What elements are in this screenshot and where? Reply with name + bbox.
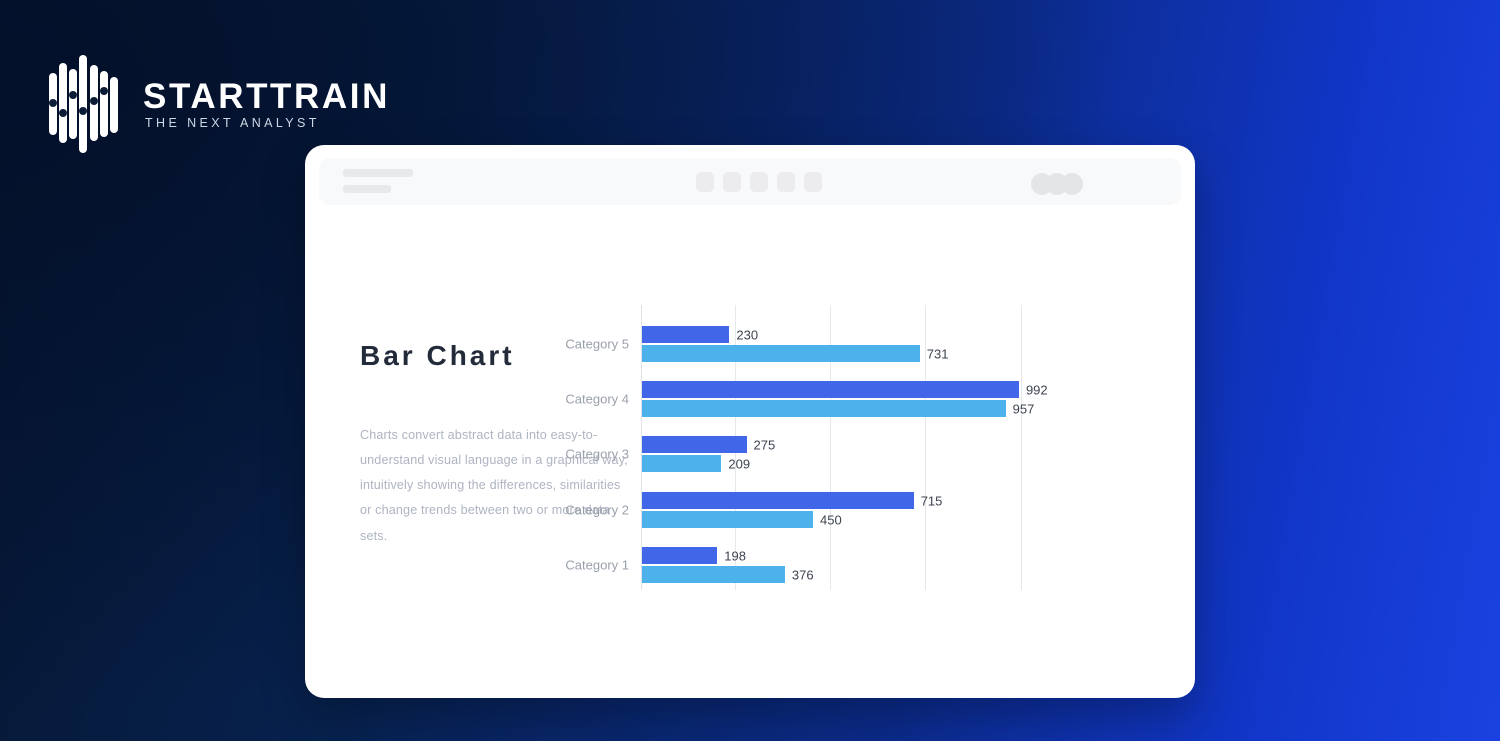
- toolbar-tile-2[interactable]: [723, 172, 741, 192]
- slide-description: Charts convert abstract data into easy-t…: [360, 423, 635, 549]
- toolbar-placeholder-line-2: [343, 185, 391, 193]
- chart-bar-value: 992: [1026, 382, 1048, 397]
- chart-bar[interactable]: 209: [642, 455, 721, 472]
- chart-bar-value: 731: [927, 346, 949, 361]
- chart-category-label: Category 5: [565, 337, 629, 352]
- chart-category-label: Category 3: [565, 447, 629, 462]
- brand-name: STARTTRAIN: [143, 79, 390, 114]
- chart-bar-value: 209: [728, 456, 750, 471]
- chart-bar-value: 376: [792, 567, 814, 582]
- chart-bar[interactable]: 230: [642, 326, 729, 343]
- chart-category-group: Category 1198376: [641, 547, 1071, 583]
- chart-bar[interactable]: 376: [642, 566, 785, 583]
- chart-bar[interactable]: 992: [642, 381, 1019, 398]
- chart-category-group: Category 3275209: [641, 436, 1071, 472]
- toolbar-tile-3[interactable]: [750, 172, 768, 192]
- slide-copy: Bar Chart Charts convert abstract data i…: [360, 341, 635, 549]
- chart-bar-value: 450: [820, 512, 842, 527]
- browser-toolbar: [319, 158, 1181, 205]
- chart-category-label: Category 2: [565, 503, 629, 518]
- chart-bar[interactable]: 731: [642, 345, 920, 362]
- chart-bar-value: 230: [736, 327, 758, 342]
- brand-tagline: THE NEXT ANALYST: [143, 117, 390, 130]
- chart-bar-value: 715: [921, 493, 943, 508]
- chart-bar[interactable]: 957: [642, 400, 1006, 417]
- chart-category-group: Category 4992957: [641, 381, 1071, 417]
- bar-equalizer-icon: [49, 55, 121, 153]
- chart-bar[interactable]: 275: [642, 436, 747, 453]
- chart-bar-value: 957: [1013, 401, 1035, 416]
- bar-chart: Category 5230731Category 4992957Category…: [641, 305, 1071, 590]
- browser-window: Bar Chart Charts convert abstract data i…: [305, 145, 1195, 698]
- chart-category-label: Category 4: [565, 392, 629, 407]
- toolbar-tile-4[interactable]: [777, 172, 795, 192]
- brand-logo: STARTTRAIN THE NEXT ANALYST: [49, 55, 390, 153]
- avatar[interactable]: [1061, 173, 1083, 195]
- chart-bar[interactable]: 450: [642, 511, 813, 528]
- toolbar-tile-5[interactable]: [804, 172, 822, 192]
- chart-category-group: Category 2715450: [641, 492, 1071, 528]
- toolbar-placeholder-line-1: [343, 169, 413, 177]
- chart-bar-value: 198: [724, 548, 746, 563]
- chart-bar-value: 275: [754, 437, 776, 452]
- chart-bar[interactable]: 715: [642, 492, 914, 509]
- toolbar-tile-1[interactable]: [696, 172, 714, 192]
- chart-category-label: Category 1: [565, 558, 629, 573]
- chart-bar[interactable]: 198: [642, 547, 717, 564]
- chart-category-group: Category 5230731: [641, 326, 1071, 362]
